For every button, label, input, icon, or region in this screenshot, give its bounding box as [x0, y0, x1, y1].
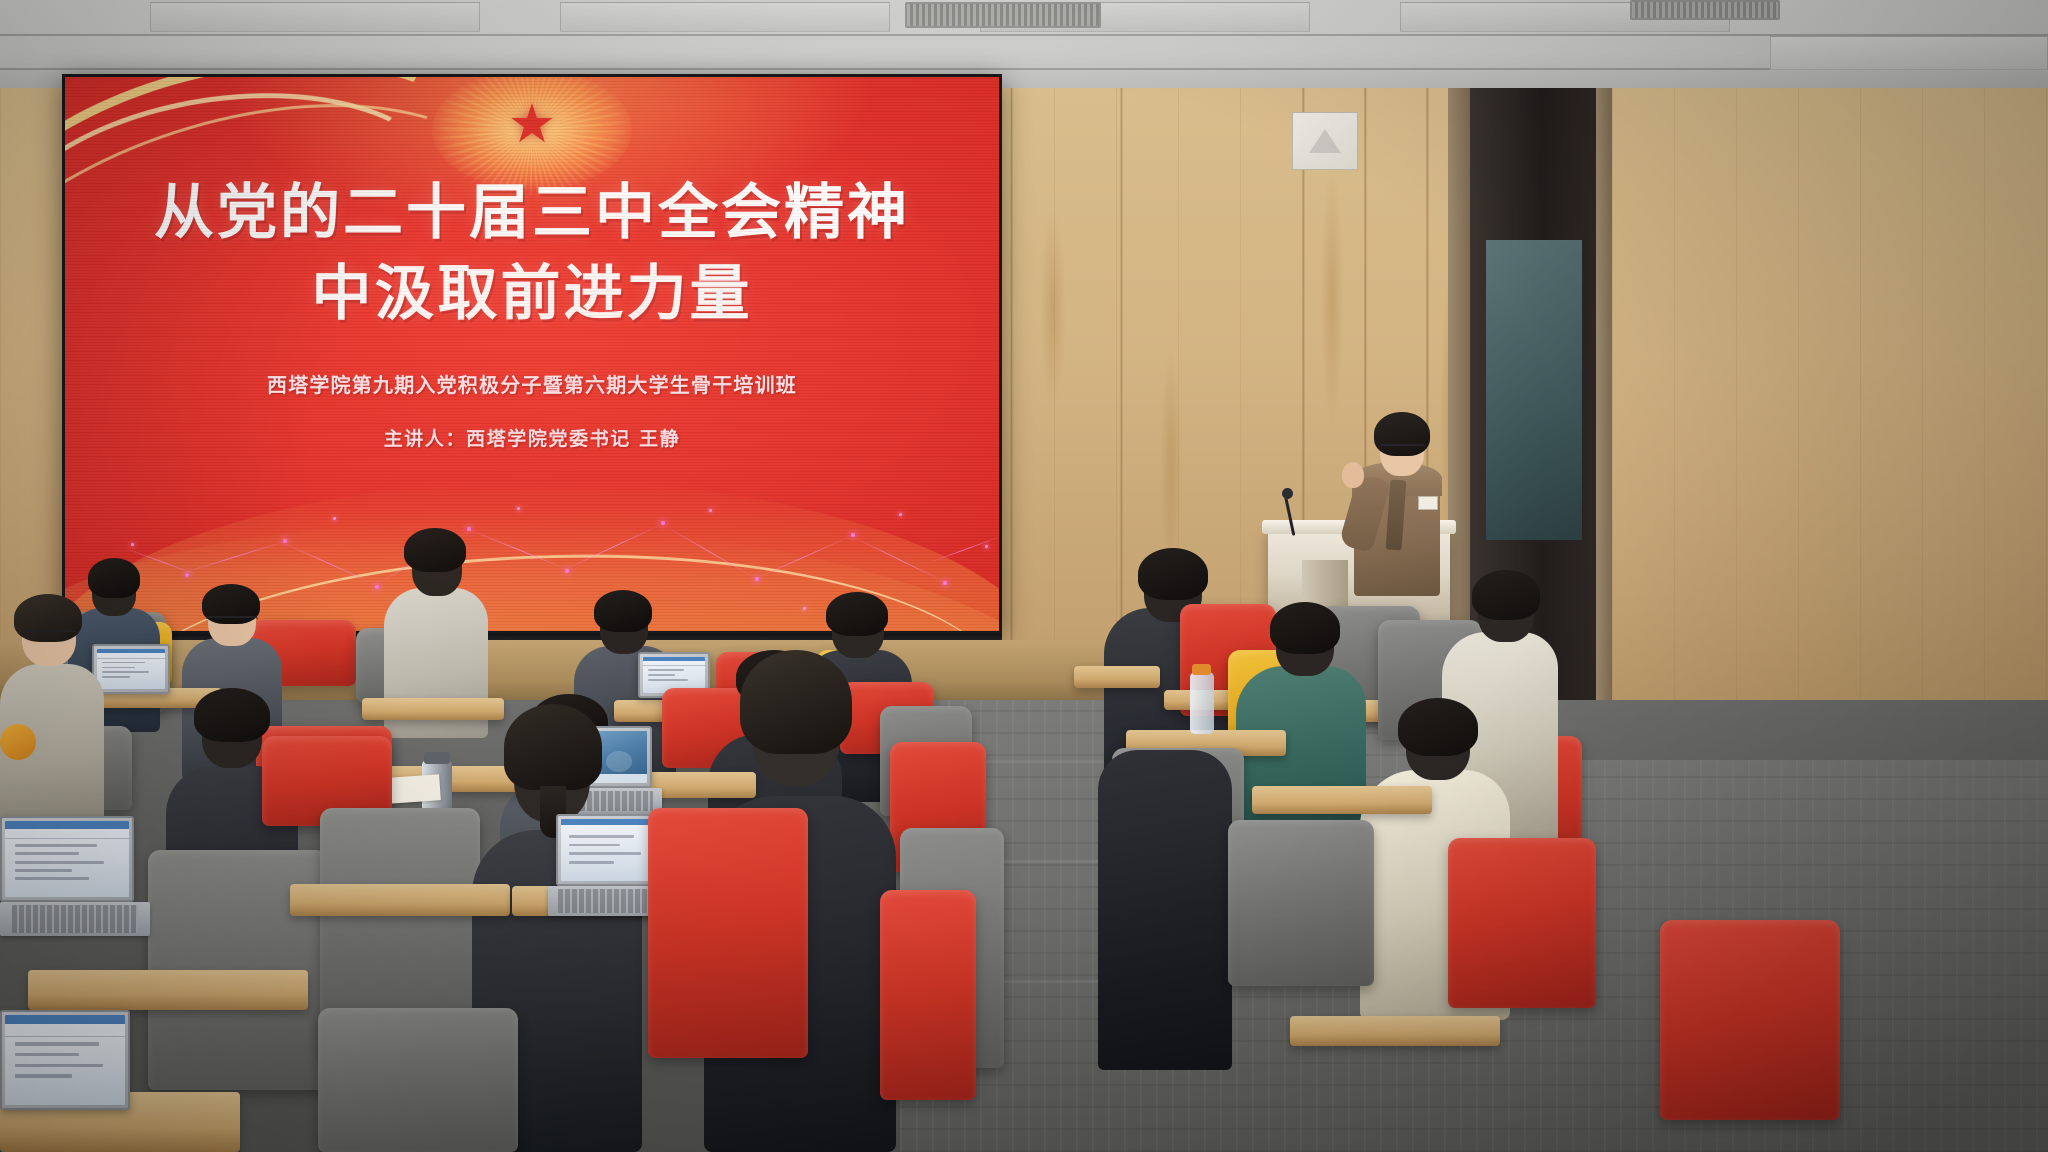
speaker-person [1340, 404, 1450, 624]
led-presentation-screen[interactable]: ★ [62, 74, 1002, 634]
eyeglasses-icon [206, 616, 258, 624]
wall-mounted-plate [1292, 112, 1358, 170]
ceiling-air-vent [1630, 0, 1780, 20]
laptop[interactable] [0, 1010, 130, 1110]
audience-person [0, 592, 108, 832]
laptop[interactable] [0, 816, 134, 902]
desk [290, 884, 510, 916]
screen-surface: ★ [65, 77, 999, 631]
five-pointed-star-icon: ★ [508, 97, 556, 151]
slide-subtitle: 西塔学院第九期入党积极分子暨第六期大学生骨干培训班 [65, 369, 999, 398]
water-bottle [1190, 672, 1214, 734]
microphone-icon [1282, 488, 1293, 499]
slide-title-line-1: 从党的二十届三中全会精神 [65, 173, 999, 254]
laptop[interactable] [566, 730, 664, 794]
triangle-icon [1309, 129, 1341, 153]
audience-person [1334, 700, 1514, 1060]
audience-person [1090, 740, 1240, 1080]
eyeglasses-icon [20, 630, 78, 639]
slide-text-block: 从党的二十届三中全会精神 中汲取前进力量 西塔学院第九期入党积极分子暨第六期大学… [65, 173, 999, 451]
door-frame [1596, 88, 1612, 788]
glass-panel [1486, 240, 1582, 540]
chair[interactable] [880, 890, 976, 1100]
chair[interactable] [1660, 920, 1840, 1120]
desk [1074, 666, 1160, 688]
slide-title-line-2: 中汲取前进力量 [65, 254, 999, 335]
laptop-screen [5, 821, 129, 897]
chair[interactable] [648, 808, 808, 1058]
desk [28, 970, 308, 1010]
chair[interactable] [318, 1008, 518, 1152]
laptop-keyboard[interactable] [0, 902, 150, 936]
slide-presenter-line: 主讲人：西塔学院党委书记 王静 [65, 424, 999, 451]
speaker-badge [1418, 496, 1438, 510]
ceiling-air-vent [905, 2, 1101, 28]
orange-fruit [0, 724, 36, 760]
speaker-hand [1342, 462, 1364, 488]
paper-sheet [387, 774, 441, 804]
eyeglasses-icon [1378, 444, 1426, 452]
photo-scene: ★ [0, 0, 2048, 1152]
laptop-screen [5, 1015, 125, 1105]
thermos-lid [424, 752, 450, 764]
bottle-cap-orange [1192, 664, 1211, 675]
